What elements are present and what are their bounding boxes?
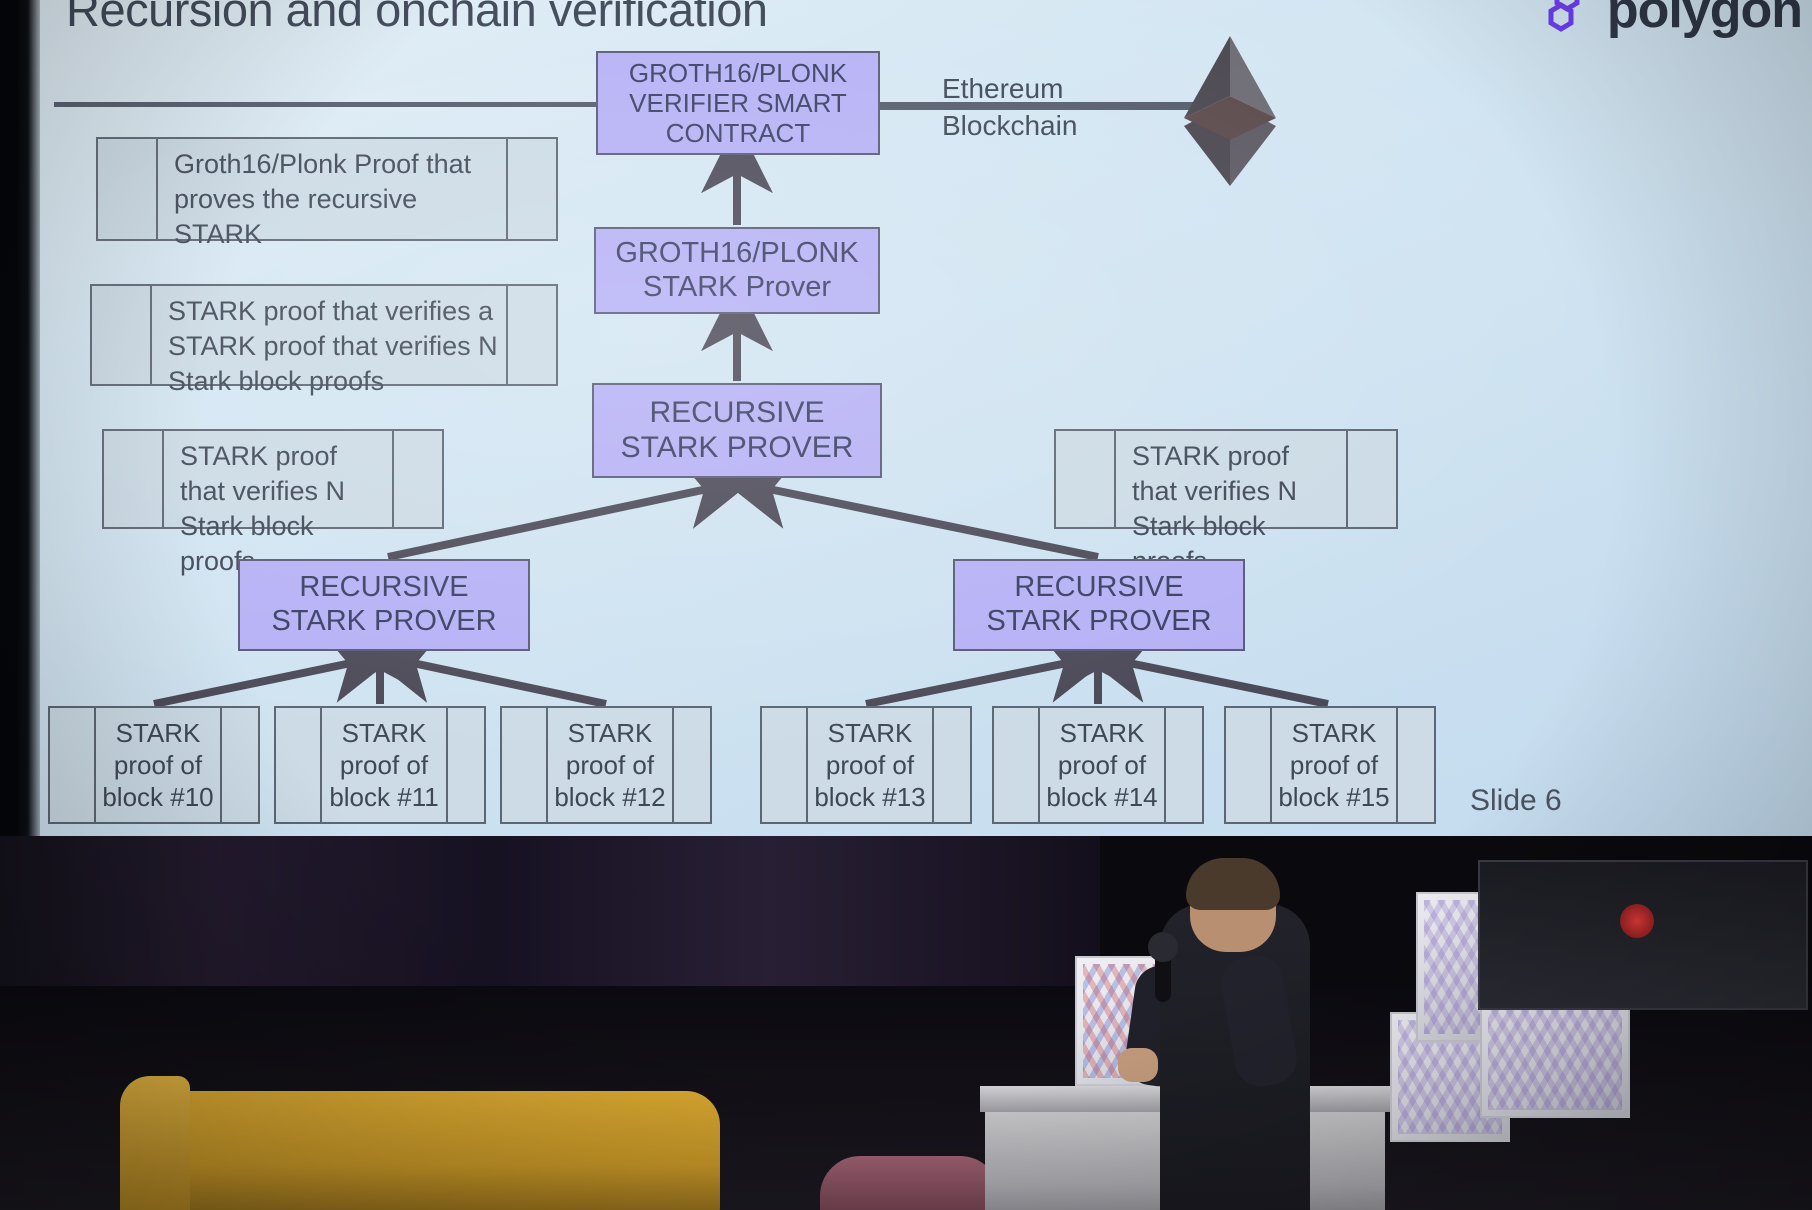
box-groth16-plonk-stark-prover[interactable]: GROTH16/PLONK STARK Prover — [594, 227, 880, 314]
box-recursive-right-line2: STARK PROVER — [986, 605, 1211, 639]
laptop-logo-dot-icon — [1620, 904, 1654, 938]
callout-handle-right — [1346, 431, 1396, 527]
leaf-line1: STARK — [812, 717, 928, 749]
polygon-logo: polygon — [1537, 0, 1802, 40]
box-verifier-line2: VERIFIER SMART — [629, 88, 847, 118]
yellow-sofa — [120, 1091, 720, 1210]
callout-text: Groth16/Plonk Proof that proves the recu… — [158, 139, 506, 239]
callout-handle-right — [392, 431, 442, 527]
box-verifier-line1: GROTH16/PLONK — [629, 58, 847, 88]
leaf-handle-right — [1164, 708, 1202, 822]
callout-stark-verifies-n-left[interactable]: STARK proof that verifies N Stark block … — [102, 429, 444, 529]
box-gp-prover-line2: STARK Prover — [643, 271, 831, 305]
sofa-arm — [120, 1076, 190, 1210]
leaf-body: STARK proof of block #14 — [1040, 708, 1164, 822]
ethereum-label-line1: Ethereum — [942, 70, 1077, 107]
leaf-box-block-14[interactable]: STARK proof of block #14 — [992, 706, 1204, 824]
callout-text: STARK proof that verifies N Stark block … — [1116, 431, 1346, 527]
callout-handle-left — [92, 286, 152, 384]
callout-handle-left — [104, 431, 164, 527]
leaf-line1: STARK — [100, 717, 216, 749]
leaf-handle-left — [1226, 708, 1272, 822]
callout-handle-right — [506, 139, 556, 239]
ethereum-diamond-icon — [1180, 36, 1280, 186]
leaf-line2: proof of — [100, 749, 216, 781]
screenshot-root: Recursion and onchain verification polyg… — [0, 0, 1812, 1210]
box-recursive-stark-prover-left[interactable]: RECURSIVE STARK PROVER — [238, 559, 530, 651]
leaf-handle-left — [762, 708, 808, 822]
callout-groth-plonk-proof[interactable]: Groth16/Plonk Proof that proves the recu… — [96, 137, 558, 241]
leaf-line1: STARK — [326, 717, 442, 749]
box-recursive-stark-prover-top[interactable]: RECURSIVE STARK PROVER — [592, 383, 882, 478]
leaf-box-block-15[interactable]: STARK proof of block #15 — [1224, 706, 1436, 824]
slide-number: Slide 6 — [1470, 784, 1562, 818]
box-recursive-right-line1: RECURSIVE — [1014, 571, 1183, 605]
leaf-line2: proof of — [1044, 749, 1160, 781]
leaf-body: STARK proof of block #10 — [96, 708, 220, 822]
leaf-box-block-12[interactable]: STARK proof of block #12 — [500, 706, 712, 824]
leaf-handle-right — [446, 708, 484, 822]
leaf-line3: block #11 — [326, 781, 442, 813]
leaf-line2: proof of — [326, 749, 442, 781]
ethereum-blockchain-label: Ethereum Blockchain — [942, 70, 1077, 144]
leaf-line1: STARK — [1044, 717, 1160, 749]
leaf-line2: proof of — [1276, 749, 1392, 781]
leaf-line3: block #12 — [552, 781, 668, 813]
leaf-handle-right — [220, 708, 258, 822]
leaf-body: STARK proof of block #11 — [322, 708, 446, 822]
leaf-line3: block #14 — [1044, 781, 1160, 813]
box-verifier-line3: CONTRACT — [666, 118, 810, 148]
box-recursive-stark-prover-right[interactable]: RECURSIVE STARK PROVER — [953, 559, 1245, 651]
leaf-handle-left — [502, 708, 548, 822]
leaf-line2: proof of — [812, 749, 928, 781]
leaf-handle-right — [672, 708, 710, 822]
box-recursive-left-line2: STARK PROVER — [271, 605, 496, 639]
leaf-handle-left — [994, 708, 1040, 822]
leaf-handle-right — [1396, 708, 1434, 822]
callout-stark-verifies-n-right[interactable]: STARK proof that verifies N Stark block … — [1054, 429, 1398, 529]
leaf-handle-left — [50, 708, 96, 822]
leaf-line3: block #10 — [100, 781, 216, 813]
leaf-handle-left — [276, 708, 322, 822]
leaf-box-block-11[interactable]: STARK proof of block #11 — [274, 706, 486, 824]
leaf-body: STARK proof of block #15 — [1272, 708, 1396, 822]
leaf-body: STARK proof of block #13 — [808, 708, 932, 822]
pink-stool — [820, 1156, 1000, 1210]
leaf-body: STARK proof of block #12 — [548, 708, 672, 822]
box-recursive-left-line1: RECURSIVE — [299, 571, 468, 605]
callout-stark-verifies-stark[interactable]: STARK proof that verifies a STARK proof … — [90, 284, 558, 386]
box-verifier-smart-contract[interactable]: GROTH16/PLONK VERIFIER SMART CONTRACT — [596, 51, 880, 155]
presenter-hair — [1186, 858, 1280, 910]
leaf-line3: block #15 — [1276, 781, 1392, 813]
box-recursive-top-line1: RECURSIVE — [649, 396, 824, 431]
polygon-mark-icon — [1537, 0, 1599, 39]
leaf-handle-right — [932, 708, 970, 822]
leaf-line3: block #13 — [812, 781, 928, 813]
leaf-line2: proof of — [552, 749, 668, 781]
callout-handle-left — [1056, 431, 1116, 527]
leaf-box-block-10[interactable]: STARK proof of block #10 — [48, 706, 260, 824]
page-title: Recursion and onchain verification — [66, 0, 767, 37]
leaf-line1: STARK — [1276, 717, 1392, 749]
box-gp-prover-line1: GROTH16/PLONK — [615, 237, 858, 271]
stage-area — [0, 836, 1812, 1210]
ethereum-label-line2: Blockchain — [942, 107, 1077, 144]
microphone-head — [1148, 932, 1178, 962]
leaf-box-block-13[interactable]: STARK proof of block #13 — [760, 706, 972, 824]
presenter-hand-clicker — [1118, 1048, 1158, 1082]
callout-text: STARK proof that verifies a STARK proof … — [152, 286, 506, 384]
callout-text: STARK proof that verifies N Stark block … — [164, 431, 392, 527]
leaf-line1: STARK — [552, 717, 668, 749]
box-recursive-top-line2: STARK PROVER — [621, 431, 854, 466]
projected-slide: Recursion and onchain verification polyg… — [18, 0, 1812, 839]
callout-handle-left — [98, 139, 158, 239]
callout-handle-right — [506, 286, 556, 384]
polygon-wordmark: polygon — [1607, 0, 1802, 40]
